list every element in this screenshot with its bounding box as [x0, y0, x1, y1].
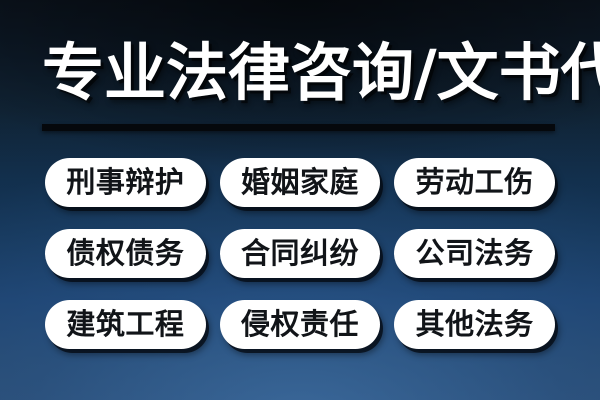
title-divider — [42, 124, 555, 131]
service-pill-construction-engineering[interactable]: 建筑工程 — [45, 300, 206, 349]
page-title: 专业法律咨询/文书代写 — [42, 30, 558, 116]
service-row: 刑事辩护 婚姻家庭 劳动工伤 — [45, 158, 555, 207]
service-pill-contract-dispute[interactable]: 合同纠纷 — [220, 229, 381, 278]
poster-canvas: 专业法律咨询/文书代写 刑事辩护 婚姻家庭 劳动工伤 债权债务 合同纠纷 公司法… — [0, 0, 600, 400]
service-pill-marriage-family[interactable]: 婚姻家庭 — [220, 158, 381, 207]
service-pill-grid: 刑事辩护 婚姻家庭 劳动工伤 债权债务 合同纠纷 公司法务 建筑工程 侵权责任 … — [45, 158, 555, 349]
service-pill-creditor-debt[interactable]: 债权债务 — [45, 229, 206, 278]
service-pill-corporate-legal[interactable]: 公司法务 — [394, 229, 555, 278]
service-row: 债权债务 合同纠纷 公司法务 — [45, 229, 555, 278]
service-pill-other-legal[interactable]: 其他法务 — [394, 300, 555, 349]
service-pill-labor-injury[interactable]: 劳动工伤 — [394, 158, 555, 207]
service-pill-tort-liability[interactable]: 侵权责任 — [220, 300, 381, 349]
service-row: 建筑工程 侵权责任 其他法务 — [45, 300, 555, 349]
service-pill-criminal-defense[interactable]: 刑事辩护 — [45, 158, 206, 207]
